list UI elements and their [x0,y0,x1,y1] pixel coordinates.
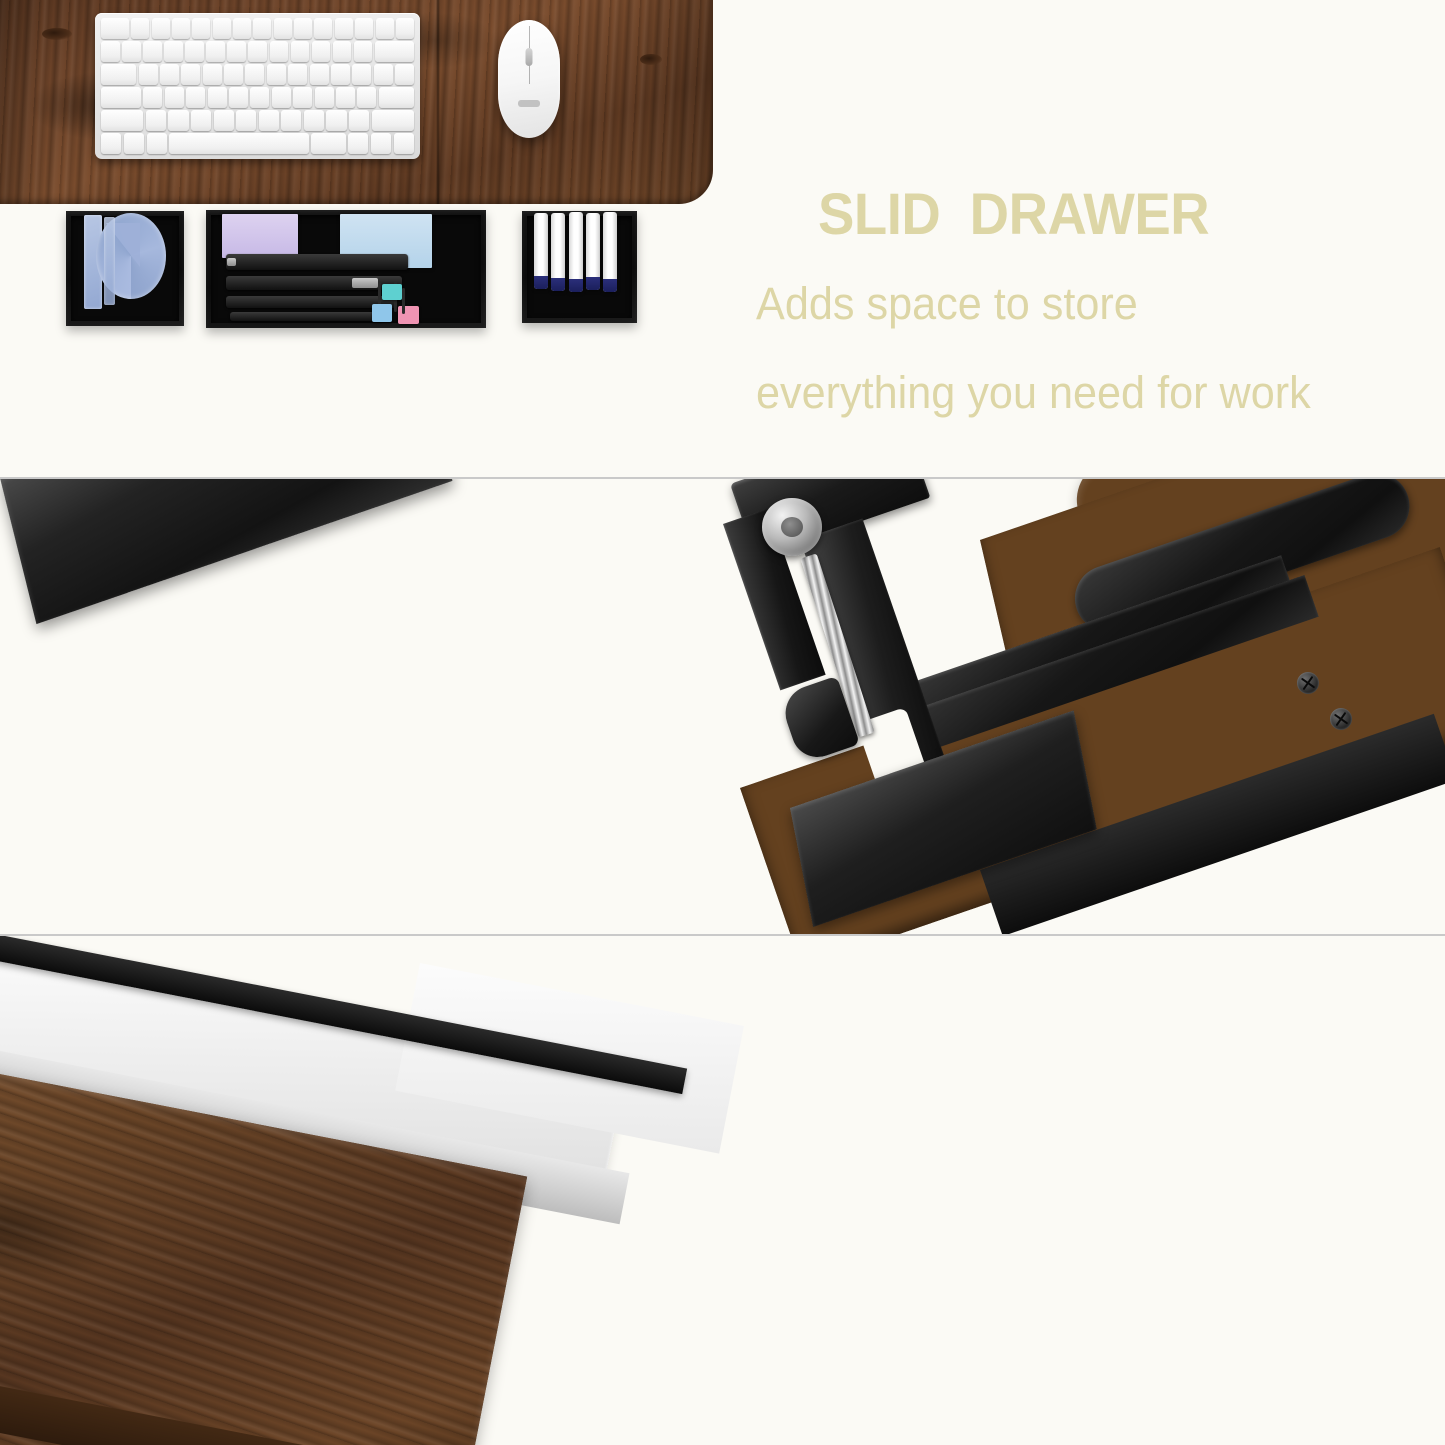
pen-tip-icon [227,258,236,266]
panel-slid-drawer: SLID DRAWER Adds space to store everythi… [0,0,1445,478]
pen-icon [226,296,396,308]
binder-clip-arm [402,288,405,314]
roller-bearing-icon [762,498,822,556]
marker-cap-icon [534,276,548,289]
marker-icon [603,212,617,292]
drawer-body-metal [0,478,452,624]
drawer-tray-middle [206,210,486,328]
marker-cap-icon [603,279,617,292]
marker-icon [534,213,548,289]
ruler-icon [104,217,115,305]
keyboard-row [101,133,414,154]
binder-clip-cyan [382,284,402,300]
keyboard-row [101,110,414,131]
marker-icon [569,212,583,292]
mounting-screw-icon [1297,672,1319,694]
subline-slid-drawer-1: Adds space to store [756,274,1311,333]
marker-icon [586,213,600,290]
mouse-scroll-wheel [526,48,533,66]
binder-clip-light-blue [372,304,392,322]
keyboard-row [101,64,414,85]
caption-slid-drawer: SLID DRAWER Adds space to store everythi… [756,186,1334,423]
wireless-keyboard [95,13,420,159]
keyboard-row [101,18,414,39]
roller-core [781,517,803,537]
pen-tip-icon [352,278,378,288]
pen-icon [226,254,408,270]
subline-slid-drawer-2: everything you need for work [756,363,1311,422]
drawer-tray-left [66,211,184,326]
marker-cap-icon [586,277,600,290]
keyboard-row [101,41,414,62]
headline-slid-drawer: SLID DRAWER [818,186,1303,244]
pen-icon [230,312,382,321]
drawer-tray-right [522,211,637,323]
wood-knot-icon [640,54,662,65]
marker-cap-icon [551,278,565,291]
keyboard-row [101,87,414,108]
marker-cap-icon [569,279,583,292]
mouse-brand-mark [518,100,540,107]
sticky-note-purple [222,214,298,258]
section-divider [0,477,1445,479]
marker-icon [551,213,565,291]
wood-knot-icon [42,28,72,40]
product-infographic: SLID DRAWER Adds space to store everythi… [0,0,1445,1445]
panel-smooth-glide-tracke: SMOOTH GLIDE TRACKE Easily pulled out an… [0,478,1445,935]
desk-plank-seam [436,0,440,204]
wireless-mouse [498,20,560,138]
mounting-screw-icon [1330,708,1352,730]
panel-c-clamp-mount: C CLAMP MOUNT Easy to install No tools r… [0,935,1445,1445]
section-divider [0,934,1445,936]
